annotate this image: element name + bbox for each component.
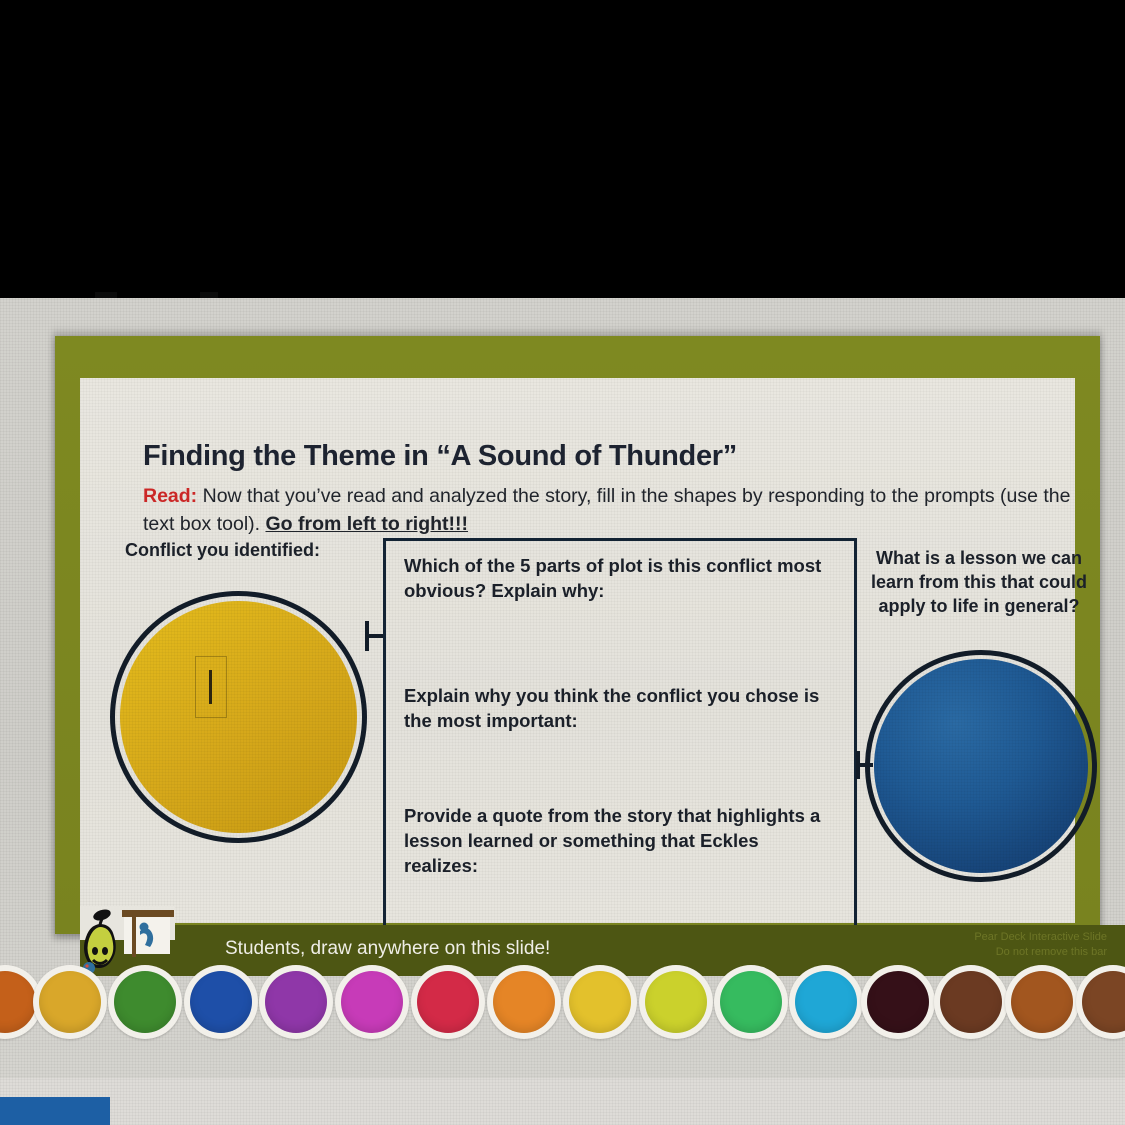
color-swatch-fill-dark-orange[interactable] (0, 971, 36, 1033)
screen-black-bezel (0, 0, 1125, 298)
color-swatch-yellow-gold[interactable] (563, 965, 637, 1039)
color-swatch-fill-yellow-green[interactable] (645, 971, 707, 1033)
yellow-circle-outline (110, 591, 367, 843)
color-swatch-fill-crimson[interactable] (417, 971, 479, 1033)
screen-photo: Finding the Theme in “A Sound of Thunder… (0, 0, 1125, 1125)
desktop-background-lower (0, 1078, 1125, 1125)
color-swatch-fill-brown-2[interactable] (1082, 971, 1125, 1033)
color-swatch-fill-gold[interactable] (39, 971, 101, 1033)
presentation-slide[interactable]: Finding the Theme in “A Sound of Thunder… (55, 336, 1100, 934)
color-swatch-fill-dark-maroon[interactable] (867, 971, 929, 1033)
right-column-label: What is a lesson we can learn from this … (863, 546, 1095, 618)
color-swatch-fill-purple[interactable] (265, 971, 327, 1033)
yellow-answer-circle[interactable] (110, 591, 367, 843)
blue-answer-circle[interactable] (865, 650, 1097, 882)
prompt-3: Provide a quote from the story that high… (404, 803, 834, 878)
peardeck-prompt-text: Students, draw anywhere on this slide! (225, 938, 550, 960)
slide-canvas[interactable]: Finding the Theme in “A Sound of Thunder… (80, 378, 1075, 923)
taskbar-blue-block (0, 1097, 110, 1125)
connector-right-cap (856, 751, 860, 779)
prompt-2: Explain why you think the conflict you c… (404, 683, 834, 733)
color-swatch-light-brown[interactable] (1005, 965, 1079, 1039)
color-swatch-brown[interactable] (934, 965, 1008, 1039)
color-swatch-purple[interactable] (259, 965, 333, 1039)
blue-circle-outline (865, 650, 1097, 882)
prompt-1: Which of the 5 parts of plot is this con… (404, 553, 834, 603)
color-swatch-dark-maroon[interactable] (861, 965, 935, 1039)
peardeck-legal-line-1: Pear Deck Interactive Slide (974, 930, 1107, 945)
color-swatch-fill-light-green[interactable] (720, 971, 782, 1033)
peardeck-legal-line-2: Do not remove this bar (974, 945, 1107, 960)
color-swatch-light-green[interactable] (714, 965, 788, 1039)
left-column-label: Conflict you identified: (125, 538, 325, 562)
color-swatch-brown-2[interactable] (1076, 965, 1125, 1039)
color-swatch-orange[interactable] (487, 965, 561, 1039)
color-swatch-green[interactable] (108, 965, 182, 1039)
color-swatch-blue[interactable] (184, 965, 258, 1039)
color-swatch-fill-orange[interactable] (493, 971, 555, 1033)
color-palette[interactable] (0, 965, 1125, 1053)
color-swatch-fill-green[interactable] (114, 971, 176, 1033)
color-swatch-magenta[interactable] (335, 965, 409, 1039)
color-swatch-crimson[interactable] (411, 965, 485, 1039)
connector-left-cap (365, 621, 369, 651)
page-title: Finding the Theme in “A Sound of Thunder… (143, 440, 737, 473)
color-swatch-gold[interactable] (33, 965, 107, 1039)
color-swatch-fill-yellow-gold[interactable] (569, 971, 631, 1033)
middle-answer-box[interactable]: Which of the 5 parts of plot is this con… (383, 538, 857, 930)
color-swatch-fill-light-brown[interactable] (1011, 971, 1073, 1033)
color-swatch-fill-blue[interactable] (190, 971, 252, 1033)
instructions-emphasis: Go from left to right!!! (265, 513, 468, 535)
color-swatch-cyan[interactable] (789, 965, 863, 1039)
read-label: Read: (143, 485, 197, 507)
peardeck-legal-notice: Pear Deck Interactive Slide Do not remov… (974, 930, 1107, 960)
color-swatch-yellow-green[interactable] (639, 965, 713, 1039)
color-swatch-fill-brown[interactable] (940, 971, 1002, 1033)
color-swatch-fill-magenta[interactable] (341, 971, 403, 1033)
color-swatch-fill-cyan[interactable] (795, 971, 857, 1033)
instructions-text: Read: Now that you’ve read and analyzed … (143, 482, 1073, 539)
